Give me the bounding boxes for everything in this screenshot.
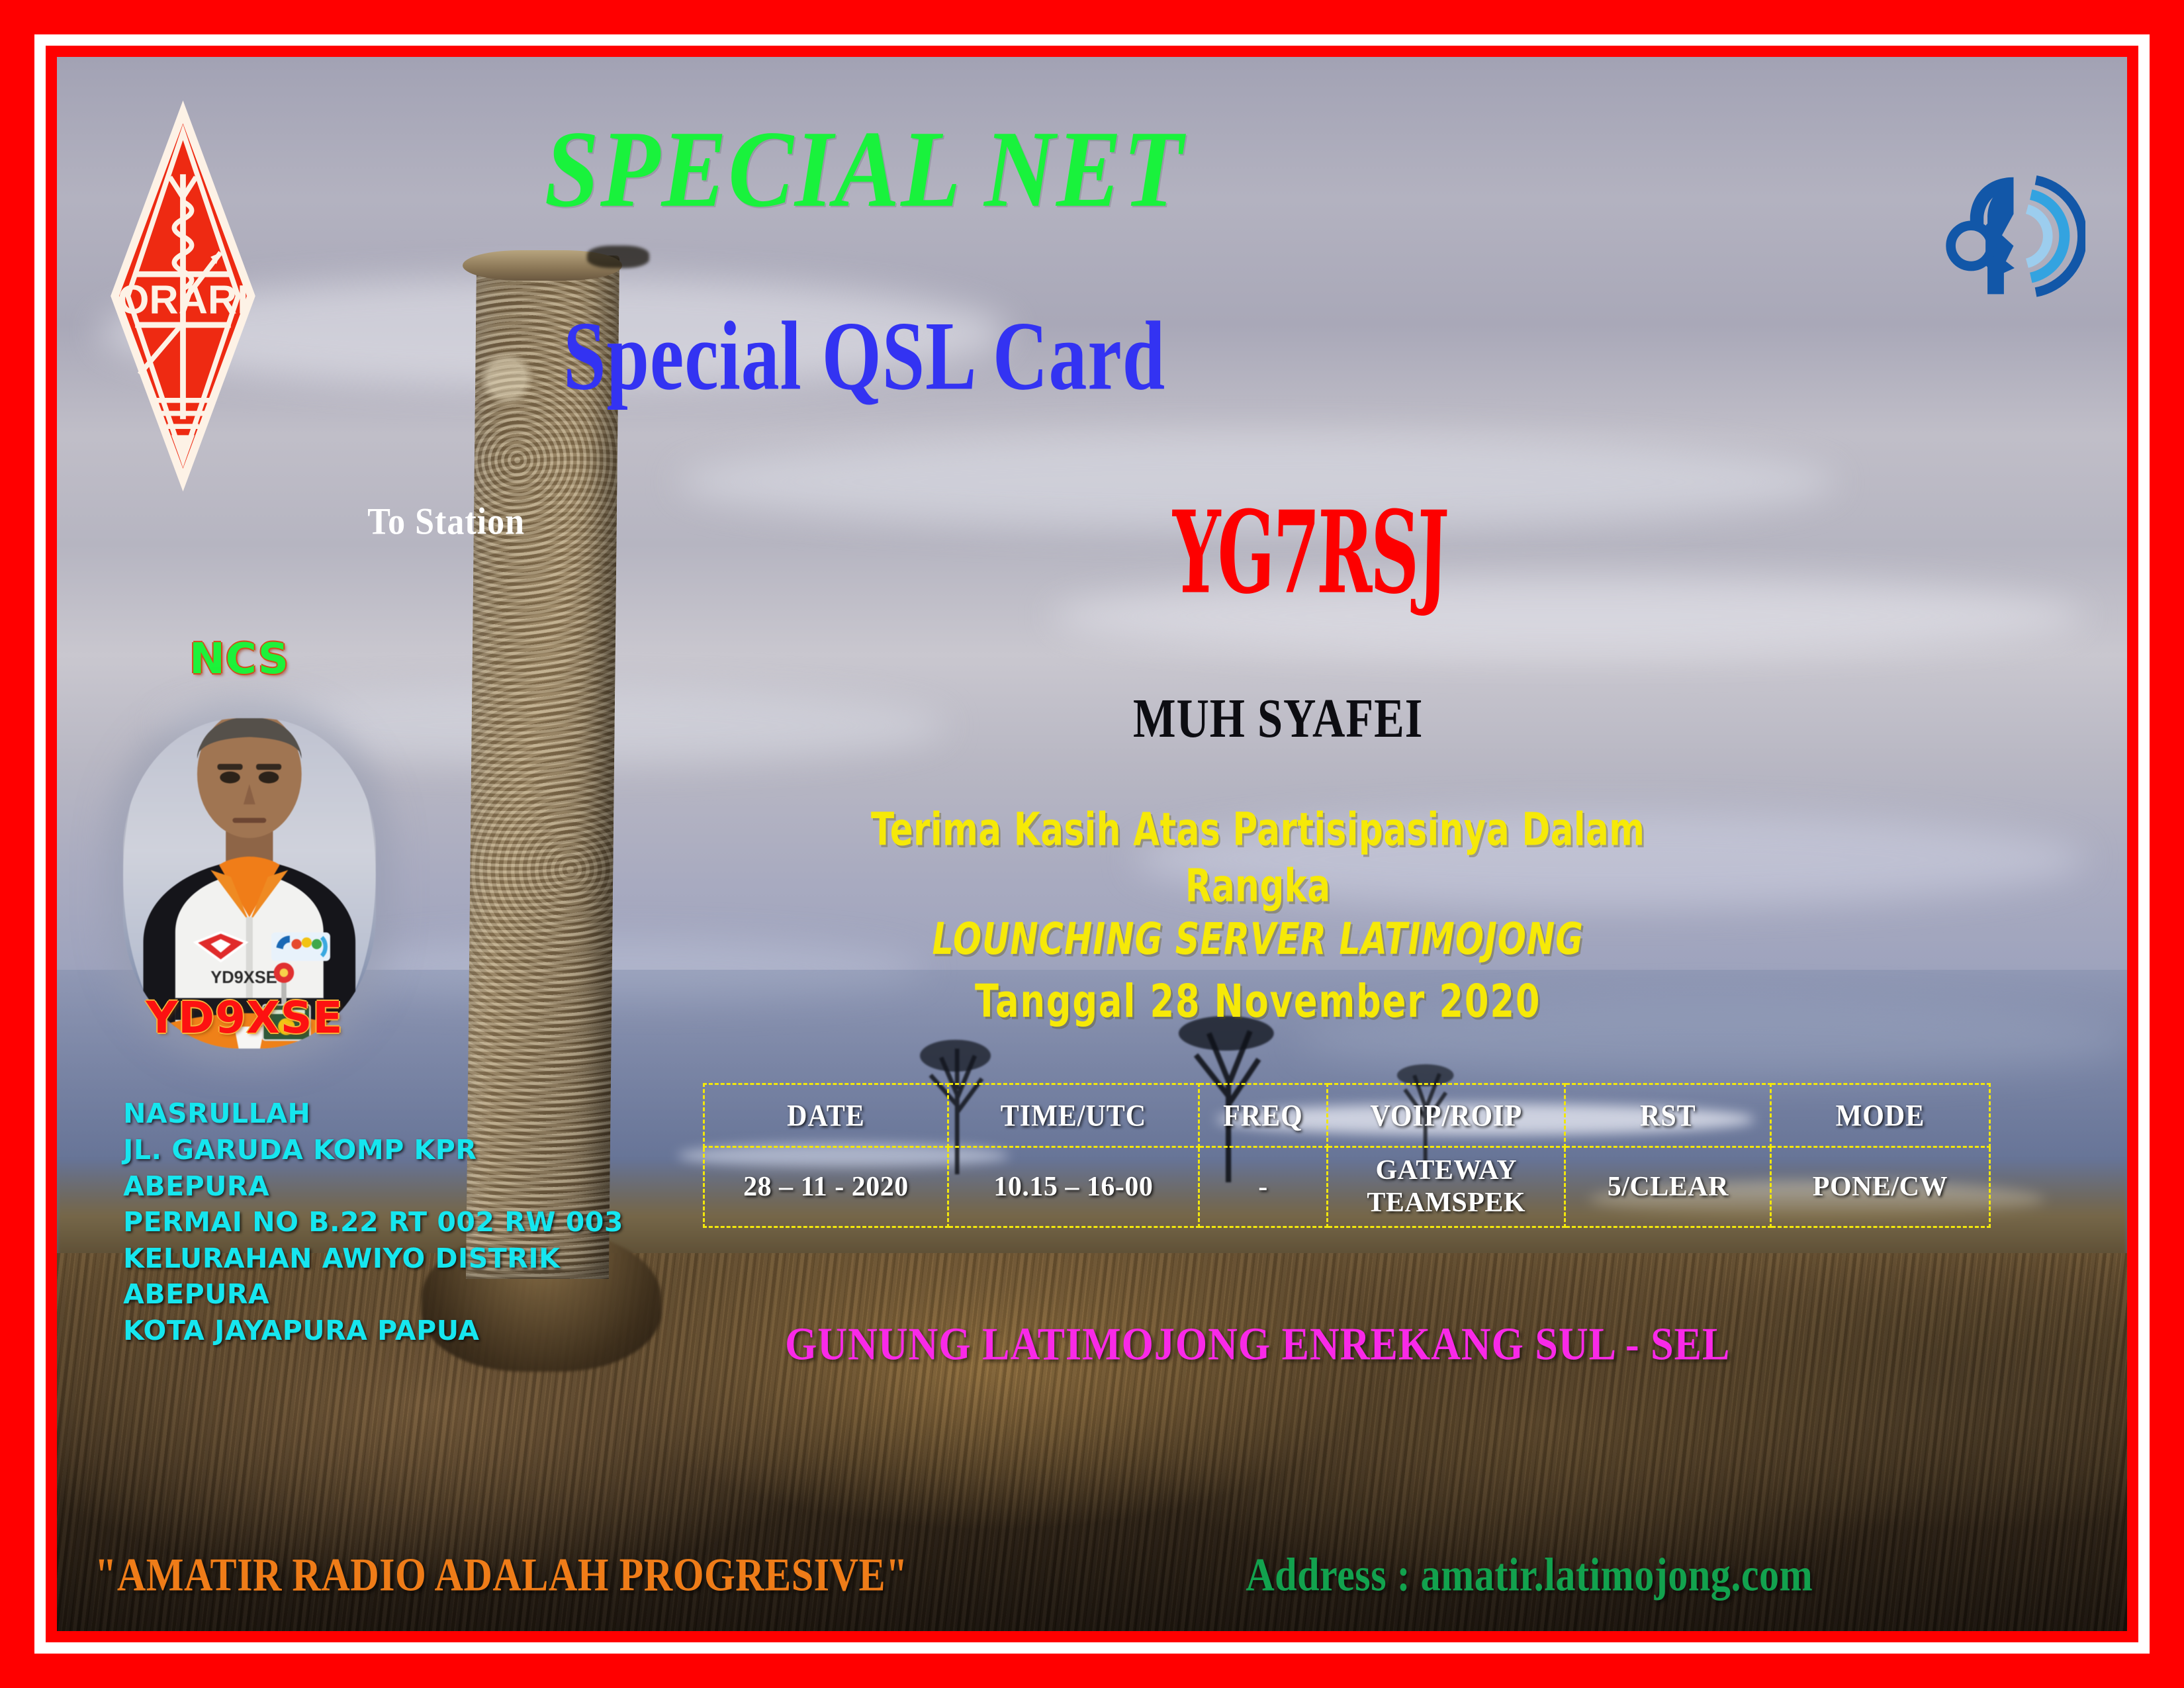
thanks-line-1: Terima Kasih Atas Partisipasinya Dalam R… <box>801 802 1715 915</box>
station-callsign: YG7RSJ <box>1015 496 1604 609</box>
cell-time: 10.15 – 16-00 <box>948 1147 1199 1227</box>
qsl-card-outer-frame: ORARI SPECIAL NET <box>0 0 2184 1688</box>
cell-date: 28 – 11 - 2020 <box>704 1147 948 1227</box>
table-row: 28 – 11 - 2020 10.15 – 16-00 - GATEWAY T… <box>704 1147 1989 1227</box>
qso-log-table: DATE TIME/UTC FREQ VOIP/ROIP RST MODE 28… <box>703 1083 1991 1228</box>
thanks-line-3: Tanggal 28 November 2020 <box>791 974 1725 1030</box>
cell-voip-line-2: TEAMSPEK <box>1328 1187 1564 1220</box>
headphone-face-logo-icon <box>1941 79 2086 394</box>
cell-mode: PONE/CW <box>1771 1147 1989 1227</box>
orari-logo-icon: ORARI <box>111 91 255 500</box>
cell-rst: 5/CLEAR <box>1565 1147 1771 1227</box>
column-header-date: DATE <box>704 1081 948 1150</box>
page-title: SPECIAL NET <box>264 114 1465 226</box>
grass-tuft <box>587 246 649 267</box>
ncs-label: NCS <box>189 635 289 684</box>
column-header-mode: MODE <box>1771 1081 1989 1150</box>
orari-logo-text: ORARI <box>118 277 249 322</box>
address-line: JL. GARUDA KOMP KPR <box>123 1132 623 1168</box>
website-address: Address : amatir.latimojong.com <box>1246 1549 1813 1603</box>
qsl-card-photo-canvas: ORARI SPECIAL NET <box>57 57 2127 1631</box>
to-station-label: To Station <box>367 500 525 543</box>
operator-name: MUH SYAFEI <box>954 687 1603 751</box>
column-header-rst: RST <box>1565 1081 1771 1150</box>
location-line: GUNUNG LATIMOJONG ENREKANG SUL - SEL <box>678 1318 1837 1371</box>
address-line: PERMAI NO B.22 RT 002 RW 003 <box>123 1204 623 1241</box>
column-header-voip: VOIP/ROIP <box>1328 1081 1565 1150</box>
ncs-callsign: YD9XSE <box>146 992 343 1043</box>
thanks-block: Terima Kasih Atas Partisipasinya Dalam R… <box>761 812 1754 1025</box>
qsl-card-white-frame: ORARI SPECIAL NET <box>34 34 2150 1654</box>
address-line: NASRULLAH <box>123 1096 623 1132</box>
table-header-row: DATE TIME/UTC FREQ VOIP/ROIP RST MODE <box>704 1084 1989 1147</box>
shirt-callsign-text: YD9XSE <box>210 968 277 987</box>
motto-text: "AMATIR RADIO ADALAH PROGRESIVE" <box>95 1549 908 1603</box>
address-line: ABEPURA <box>123 1168 623 1205</box>
cell-voip-line-1: GATEWAY <box>1328 1154 1564 1188</box>
column-header-time: TIME/UTC <box>948 1081 1199 1150</box>
column-header-freq: FREQ <box>1199 1081 1327 1150</box>
qsl-card-inner-frame: ORARI SPECIAL NET <box>46 46 2138 1642</box>
address-line: KOTA JAYAPURA PAPUA <box>123 1313 623 1349</box>
thanks-line-2: LOUNCHING SERVER LATIMOJONG <box>791 912 1725 966</box>
address-line: KELURAHAN AWIYO DISTRIK <box>123 1241 623 1277</box>
address-block: NASRULLAH JL. GARUDA KOMP KPR ABEPURA PE… <box>123 1096 623 1348</box>
page-subtitle: Special QSL Card <box>312 308 1416 406</box>
cell-freq: - <box>1199 1147 1327 1227</box>
cell-voip: GATEWAY TEAMSPEK <box>1328 1147 1565 1227</box>
address-line: ABEPURA <box>123 1276 623 1313</box>
